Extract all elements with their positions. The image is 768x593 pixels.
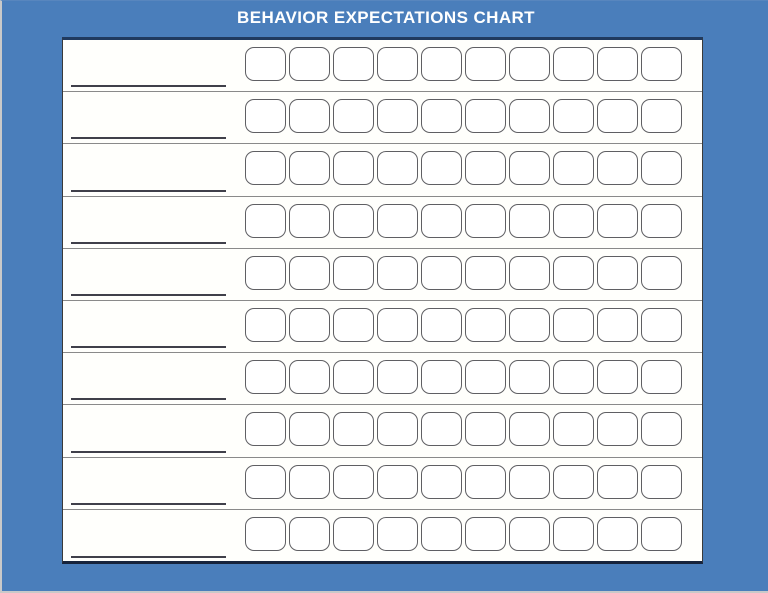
- chart-row: [63, 92, 702, 144]
- checkbox[interactable]: [465, 204, 506, 238]
- chart-row: [63, 144, 702, 196]
- title-bar: BEHAVIOR EXPECTATIONS CHART: [2, 1, 768, 37]
- checkbox[interactable]: [377, 517, 418, 551]
- checkbox[interactable]: [465, 465, 506, 499]
- checkbox[interactable]: [465, 151, 506, 185]
- checkbox[interactable]: [509, 256, 550, 290]
- checkbox[interactable]: [333, 308, 374, 342]
- expectation-write-line[interactable]: [71, 503, 226, 505]
- checkbox[interactable]: [597, 412, 638, 446]
- checkbox[interactable]: [333, 465, 374, 499]
- checkbox[interactable]: [465, 360, 506, 394]
- checkbox-strip: [245, 308, 682, 342]
- expectation-write-line[interactable]: [71, 398, 226, 400]
- checkbox[interactable]: [597, 465, 638, 499]
- checkbox[interactable]: [333, 204, 374, 238]
- checkbox[interactable]: [509, 465, 550, 499]
- chart-row: [63, 510, 702, 562]
- checkbox[interactable]: [377, 99, 418, 133]
- checkbox[interactable]: [245, 412, 286, 446]
- checkbox[interactable]: [333, 256, 374, 290]
- checkbox-strip: [245, 465, 682, 499]
- checkbox-strip: [245, 47, 682, 81]
- checkbox[interactable]: [465, 99, 506, 133]
- chart-row: [63, 197, 702, 249]
- checkbox[interactable]: [597, 99, 638, 133]
- checkbox[interactable]: [333, 99, 374, 133]
- checkbox[interactable]: [509, 204, 550, 238]
- checkbox[interactable]: [333, 360, 374, 394]
- checkbox[interactable]: [421, 360, 462, 394]
- checkbox[interactable]: [377, 308, 418, 342]
- checkbox[interactable]: [553, 256, 594, 290]
- chart-panel: [62, 37, 703, 564]
- checkbox[interactable]: [377, 465, 418, 499]
- checkbox[interactable]: [289, 360, 330, 394]
- checkbox[interactable]: [245, 47, 286, 81]
- checkbox[interactable]: [597, 47, 638, 81]
- checkbox[interactable]: [289, 151, 330, 185]
- checkbox[interactable]: [333, 47, 374, 81]
- checkbox-strip: [245, 256, 682, 290]
- checkbox[interactable]: [377, 47, 418, 81]
- checkbox[interactable]: [421, 204, 462, 238]
- checkbox[interactable]: [509, 517, 550, 551]
- checkbox[interactable]: [377, 204, 418, 238]
- checkbox[interactable]: [509, 47, 550, 81]
- checkbox[interactable]: [641, 412, 682, 446]
- chart-row: [63, 40, 702, 92]
- expectation-write-line[interactable]: [71, 556, 226, 558]
- checkbox[interactable]: [245, 256, 286, 290]
- checkbox-strip: [245, 151, 682, 185]
- checkbox[interactable]: [465, 256, 506, 290]
- checkbox[interactable]: [641, 256, 682, 290]
- checkbox[interactable]: [641, 47, 682, 81]
- expectation-write-line[interactable]: [71, 451, 226, 453]
- expectation-write-line[interactable]: [71, 294, 226, 296]
- chart-row: [63, 458, 702, 510]
- page-title: BEHAVIOR EXPECTATIONS CHART: [237, 9, 535, 26]
- checkbox[interactable]: [333, 151, 374, 185]
- checkbox[interactable]: [245, 99, 286, 133]
- checkbox[interactable]: [465, 412, 506, 446]
- checkbox[interactable]: [465, 47, 506, 81]
- checkbox[interactable]: [553, 204, 594, 238]
- expectation-write-line[interactable]: [71, 85, 226, 87]
- expectation-write-line[interactable]: [71, 137, 226, 139]
- chart-row: [63, 353, 702, 405]
- checkbox[interactable]: [641, 360, 682, 394]
- checkbox[interactable]: [641, 151, 682, 185]
- checkbox[interactable]: [245, 360, 286, 394]
- checkbox[interactable]: [509, 360, 550, 394]
- chart-canvas: BEHAVIOR EXPECTATIONS CHART: [0, 0, 768, 593]
- checkbox[interactable]: [289, 99, 330, 133]
- checkbox[interactable]: [597, 360, 638, 394]
- checkbox[interactable]: [289, 47, 330, 81]
- checkbox[interactable]: [289, 465, 330, 499]
- checkbox[interactable]: [421, 256, 462, 290]
- checkbox[interactable]: [377, 151, 418, 185]
- checkbox-strip: [245, 99, 682, 133]
- chart-row: [63, 249, 702, 301]
- chart-row: [63, 301, 702, 353]
- checkbox[interactable]: [509, 99, 550, 133]
- checkbox-strip: [245, 204, 682, 238]
- checkbox[interactable]: [553, 360, 594, 394]
- checkbox-strip: [245, 412, 682, 446]
- checkbox[interactable]: [333, 517, 374, 551]
- checkbox[interactable]: [245, 465, 286, 499]
- checkbox[interactable]: [553, 412, 594, 446]
- checkbox[interactable]: [597, 151, 638, 185]
- checkbox[interactable]: [421, 308, 462, 342]
- checkbox[interactable]: [553, 517, 594, 551]
- expectation-write-line[interactable]: [71, 190, 226, 192]
- checkbox[interactable]: [333, 412, 374, 446]
- checkbox[interactable]: [597, 256, 638, 290]
- checkbox[interactable]: [597, 308, 638, 342]
- checkbox[interactable]: [421, 412, 462, 446]
- checkbox[interactable]: [597, 517, 638, 551]
- checkbox[interactable]: [289, 204, 330, 238]
- checkbox[interactable]: [421, 465, 462, 499]
- checkbox[interactable]: [553, 151, 594, 185]
- checkbox[interactable]: [509, 151, 550, 185]
- checkbox[interactable]: [597, 204, 638, 238]
- chart-row: [63, 405, 702, 457]
- checkbox[interactable]: [465, 308, 506, 342]
- checkbox-strip: [245, 360, 682, 394]
- checkbox[interactable]: [553, 47, 594, 81]
- checkbox[interactable]: [289, 308, 330, 342]
- expectation-write-line[interactable]: [71, 346, 226, 348]
- checkbox[interactable]: [641, 308, 682, 342]
- checkbox[interactable]: [553, 308, 594, 342]
- checkbox[interactable]: [245, 151, 286, 185]
- checkbox[interactable]: [289, 256, 330, 290]
- checkbox[interactable]: [641, 204, 682, 238]
- checkbox[interactable]: [641, 465, 682, 499]
- checkbox-strip: [245, 517, 682, 551]
- checkbox[interactable]: [421, 151, 462, 185]
- checkbox[interactable]: [421, 47, 462, 81]
- checkbox[interactable]: [289, 517, 330, 551]
- checkbox[interactable]: [553, 465, 594, 499]
- checkbox[interactable]: [509, 412, 550, 446]
- checkbox[interactable]: [465, 517, 506, 551]
- checkbox[interactable]: [421, 517, 462, 551]
- checkbox[interactable]: [641, 99, 682, 133]
- checkbox[interactable]: [289, 412, 330, 446]
- expectation-write-line[interactable]: [71, 242, 226, 244]
- checkbox[interactable]: [553, 99, 594, 133]
- checkbox[interactable]: [377, 256, 418, 290]
- checkbox[interactable]: [245, 517, 286, 551]
- checkbox[interactable]: [509, 308, 550, 342]
- checkbox[interactable]: [641, 517, 682, 551]
- checkbox[interactable]: [377, 360, 418, 394]
- checkbox[interactable]: [245, 308, 286, 342]
- checkbox[interactable]: [245, 204, 286, 238]
- checkbox[interactable]: [421, 99, 462, 133]
- checkbox[interactable]: [377, 412, 418, 446]
